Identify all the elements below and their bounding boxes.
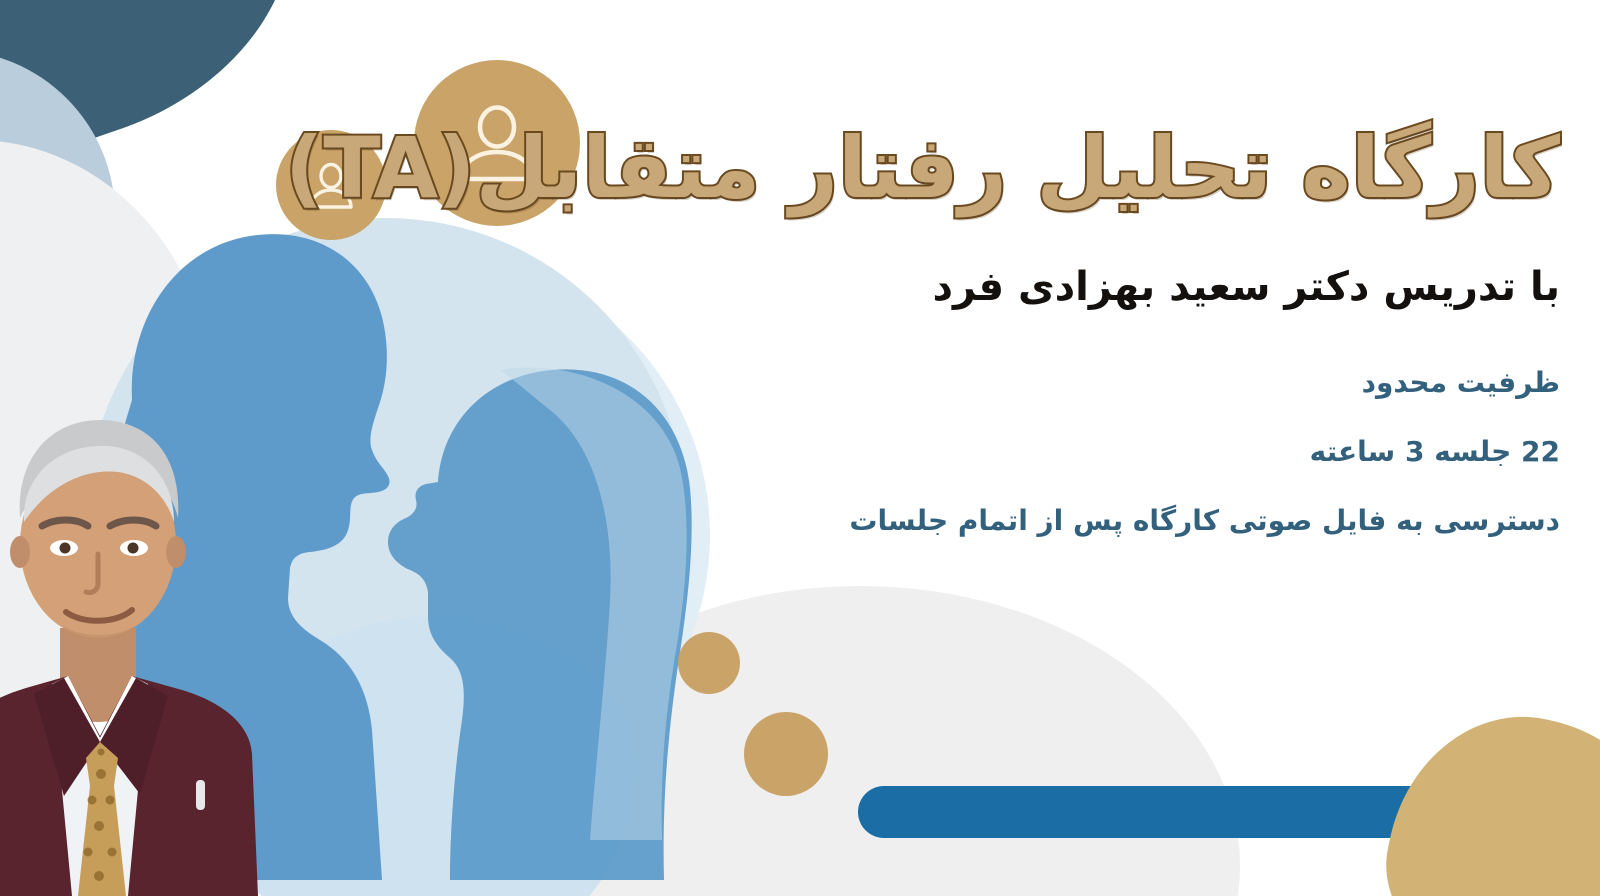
decor-blue-bar xyxy=(858,786,1558,838)
detail-audio-access: دسترسی به فایل صوتی کارگاه پس از اتمام ج… xyxy=(540,503,1560,538)
decor-gold-corner-blob xyxy=(1365,693,1600,896)
poster-title: کارگاه تحلیل رفتار متقابل(TA) xyxy=(540,120,1560,217)
poster-canvas: کارگاه تحلیل رفتار متقابل(TA) با تدریس د… xyxy=(0,0,1600,896)
poster-details: ظرفیت محدود 22 جلسه 3 ساعته دسترسی به فا… xyxy=(540,365,1560,538)
text-column: کارگاه تحلیل رفتار متقابل(TA) با تدریس د… xyxy=(540,120,1560,538)
instructor-portrait xyxy=(0,376,268,896)
poster-subtitle: با تدریس دکتر سعید بهزادی فرد xyxy=(540,261,1560,313)
decor-gold-dot-large xyxy=(744,712,828,796)
decor-bluegrey-circle xyxy=(0,50,115,380)
detail-capacity: ظرفیت محدود xyxy=(540,365,1560,400)
detail-sessions: 22 جلسه 3 ساعته xyxy=(540,434,1560,469)
